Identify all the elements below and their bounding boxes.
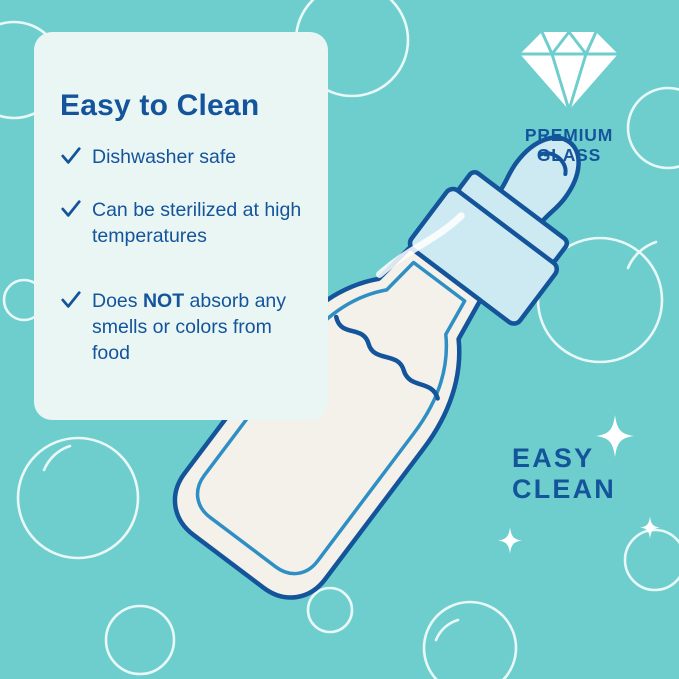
promo-image: Easy to Clean Dishwasher safe Can be ste… <box>0 0 679 679</box>
feature-text-rich: Does NOT absorb any smells or colors fro… <box>92 288 310 366</box>
check-icon <box>60 145 82 167</box>
badge-line-1: PREMIUM <box>498 125 640 145</box>
feature-text: Dishwasher safe <box>92 144 310 170</box>
sparkle-icon <box>596 415 634 457</box>
feature-text: Can be sterilized at high temperatures <box>92 197 310 249</box>
badge-line-2: GLASS <box>498 145 640 165</box>
premium-glass-badge: PREMIUM GLASS <box>498 28 640 165</box>
sparkle-icon <box>498 527 522 554</box>
feature-card: Easy to Clean Dishwasher safe Can be ste… <box>34 32 328 420</box>
feature-text-before: Does <box>92 290 143 312</box>
sparkle-icon <box>640 516 660 539</box>
feature-text-emphasis: NOT <box>143 290 184 312</box>
list-item: Does NOT absorb any smells or colors fro… <box>60 288 310 366</box>
page-title: Easy to Clean <box>60 89 259 123</box>
easy-clean-line-2: CLEAN <box>512 474 642 505</box>
check-icon <box>60 198 82 220</box>
list-item: Dishwasher safe <box>60 144 310 170</box>
check-icon <box>60 289 82 311</box>
badge-label: PREMIUM GLASS <box>498 125 640 165</box>
diamond-icon <box>516 28 622 114</box>
list-item: Can be sterilized at high temperatures <box>60 197 310 249</box>
